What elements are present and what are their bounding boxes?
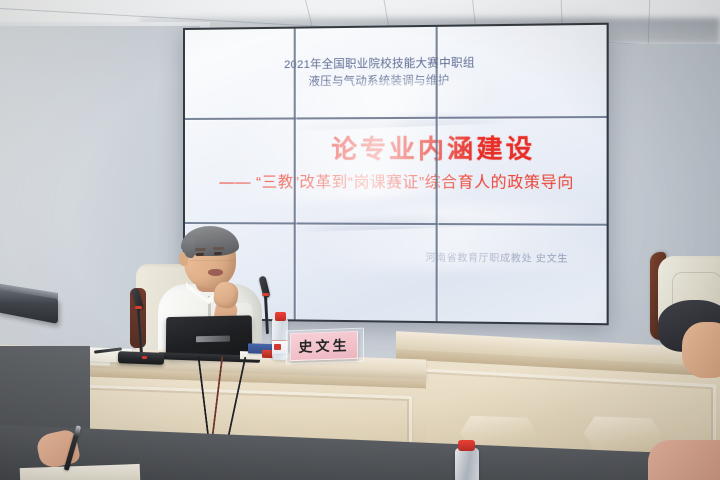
nameplate: 史文生 <box>290 331 358 361</box>
attendee-person <box>640 300 720 480</box>
bottle-cap <box>458 440 475 451</box>
nameplate-text: 史文生 <box>291 332 357 360</box>
speaker-glasses <box>190 248 234 261</box>
conference-room-photo: 2021年全国职业院校技能大赛中职组 液压与气动系统装调与维护 论专业内涵建设 … <box>0 0 720 480</box>
laptop-logo <box>196 336 230 343</box>
slide-header-line2: 液压与气动系统装调与维护 <box>211 72 551 92</box>
microphone-indicator-ring <box>262 293 269 296</box>
microphone-led-icon <box>142 356 147 359</box>
water-bottle-foreground <box>455 448 479 480</box>
slide-decoration <box>292 209 512 232</box>
slide-header: 2021年全国职业院校技能大赛中职组 液压与气动系统装调与维护 <box>211 54 551 92</box>
slide-title: 论专业内涵建设 <box>185 128 598 166</box>
bottle-cap <box>275 312 286 321</box>
slide-subtitle: —— “三教”改革到“岗课赛证”综合育人的政策导向 <box>199 170 596 193</box>
attendee-shoulder <box>648 440 720 480</box>
slide-attribution: 河南省教育厅职成教处 史文生 <box>425 250 568 265</box>
speaker-mouth <box>208 269 223 276</box>
attendee-head <box>682 322 720 378</box>
microphone-base[interactable] <box>118 351 164 365</box>
slide-decoration <box>292 106 512 131</box>
microphone-indicator-ring <box>135 306 142 309</box>
